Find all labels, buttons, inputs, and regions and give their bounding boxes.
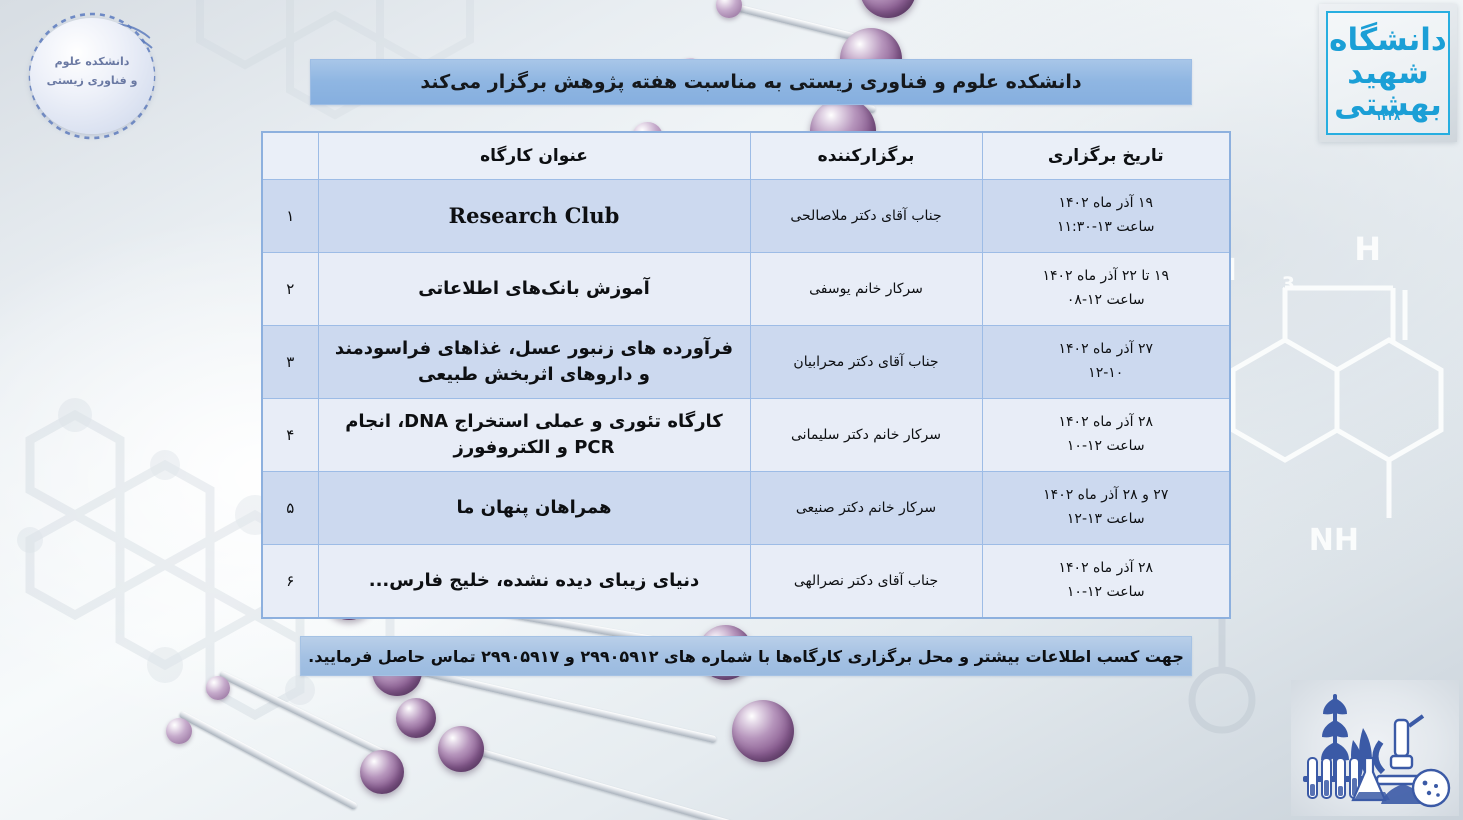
university-logo-frame: دانشگاه شهید بهشتی ۱۳۳۸: [1326, 11, 1450, 135]
cell-date: ۲۷ آذر ماه ۱۴۰۲ ۱۲-۱۰: [982, 326, 1230, 399]
faculty-seal: دانشکده علوم و فناوری زیستی: [12, 8, 172, 140]
cell-title: آموزش بانک‌های اطلاعاتی: [318, 253, 750, 326]
poster-root: CH 3 H NH دانشکده عل: [0, 0, 1463, 820]
table-row: ۱۹ تا ۲۲ آذر ماه ۱۴۰۲ ساعت ۱۲-۰۸ سرکار خ…: [262, 253, 1230, 326]
cell-organizer: سرکار خانم دکتر سلیمانی: [750, 399, 982, 472]
cell-date: ۲۸ آذر ماه ۱۴۰۲ ساعت ۱۲-۱۰: [982, 545, 1230, 618]
cell-index: ۳: [262, 326, 318, 399]
cell-index: ۱: [262, 180, 318, 253]
column-header-title: عنوان کارگاه: [318, 132, 750, 180]
cell-index: ۶: [262, 545, 318, 618]
date-line-1: ۲۷ و ۲۸ آذر ماه ۱۴۰۲: [991, 484, 1222, 508]
table-body: ۱۹ آذر ماه ۱۴۰۲ ساعت ۱۳-۱۱:۳۰ جناب آقای …: [262, 180, 1230, 618]
cell-organizer: سرکار خانم یوسفی: [750, 253, 982, 326]
cell-index: ۲: [262, 253, 318, 326]
cell-title: فرآورده های زنبور عسل، غذاهای فراسودمند …: [318, 326, 750, 399]
date-line-2: ساعت ۱۲-۱۰: [991, 435, 1222, 459]
cell-title: کارگاه تئوری و عملی استخراج DNA، انجام P…: [318, 399, 750, 472]
date-line-2: ساعت ۱۲-۰۸: [991, 289, 1222, 313]
workshop-schedule-table: تاریخ برگزاری برگزارکننده عنوان کارگاه ۱…: [261, 131, 1231, 619]
table-row: ۱۹ آذر ماه ۱۴۰۲ ساعت ۱۳-۱۱:۳۰ جناب آقای …: [262, 180, 1230, 253]
university-logo-year: ۱۳۳۸: [1328, 112, 1448, 123]
chemical-structure-icon: CH 3 H NH: [1223, 210, 1463, 610]
seal-text: دانشکده علوم و فناوری زیستی: [12, 52, 172, 91]
column-header-date: تاریخ برگزاری: [982, 132, 1230, 180]
date-line-1: ۲۷ آذر ماه ۱۴۰۲: [991, 338, 1222, 362]
table-row: ۲۸ آذر ماه ۱۴۰۲ ساعت ۱۲-۱۰ جناب آقای دکت…: [262, 545, 1230, 618]
bio-lab-emblem: [1291, 680, 1459, 816]
cell-index: ۵: [262, 472, 318, 545]
microscope-plant-labware-icon: [1291, 680, 1459, 816]
university-logo: دانشگاه شهید بهشتی ۱۳۳۸: [1319, 4, 1457, 142]
date-line-2: ساعت ۱۳-۱۲: [991, 508, 1222, 532]
date-line-1: ۲۸ آذر ماه ۱۴۰۲: [991, 557, 1222, 581]
cell-date: ۲۸ آذر ماه ۱۴۰۲ ساعت ۱۲-۱۰: [982, 399, 1230, 472]
svg-text:3: 3: [1282, 273, 1295, 295]
cell-organizer: جناب آقای دکتر محرابیان: [750, 326, 982, 399]
column-header-organizer: برگزارکننده: [750, 132, 982, 180]
contact-banner-text: جهت کسب اطلاعات بیشتر و محل برگزاری کارگ…: [308, 647, 1184, 666]
cell-organizer: سرکار خانم دکتر صنیعی: [750, 472, 982, 545]
date-line-2: ۱۲-۱۰: [991, 362, 1222, 386]
cell-organizer: جناب آقای دکتر نصرالهی: [750, 545, 982, 618]
date-line-1: ۱۹ آذر ماه ۱۴۰۲: [991, 192, 1222, 216]
cell-index: ۴: [262, 399, 318, 472]
date-line-2: ساعت ۱۲-۱۰: [991, 581, 1222, 605]
table-header-row: تاریخ برگزاری برگزارکننده عنوان کارگاه: [262, 132, 1230, 180]
date-line-1: ۲۸ آذر ماه ۱۴۰۲: [991, 411, 1222, 435]
table-head: تاریخ برگزاری برگزارکننده عنوان کارگاه: [262, 132, 1230, 180]
table-row: ۲۷ و ۲۸ آذر ماه ۱۴۰۲ ساعت ۱۳-۱۲ سرکار خا…: [262, 472, 1230, 545]
schedule-table-container: تاریخ برگزاری برگزارکننده عنوان کارگاه ۱…: [263, 131, 1231, 619]
seal-line-1: دانشکده علوم: [12, 52, 172, 71]
cell-date: ۱۹ تا ۲۲ آذر ماه ۱۴۰۲ ساعت ۱۲-۰۸: [982, 253, 1230, 326]
cell-organizer: جناب آقای دکتر ملاصالحی: [750, 180, 982, 253]
date-line-2: ساعت ۱۳-۱۱:۳۰: [991, 216, 1222, 240]
cell-title: همراهان پنهان ما: [318, 472, 750, 545]
svg-text:NH: NH: [1309, 523, 1359, 558]
date-line-1: ۱۹ تا ۲۲ آذر ماه ۱۴۰۲: [991, 265, 1222, 289]
cell-title: Research Club: [318, 180, 750, 253]
column-header-index: [262, 132, 318, 180]
title-banner-text: دانشکده علوم و فناوری زیستی به مناسبت هف…: [420, 71, 1081, 93]
table-row: ۲۷ آذر ماه ۱۴۰۲ ۱۲-۱۰ جناب آقای دکتر محر…: [262, 326, 1230, 399]
table-row: ۲۸ آذر ماه ۱۴۰۲ ساعت ۱۲-۱۰ سرکار خانم دک…: [262, 399, 1230, 472]
cell-date: ۱۹ آذر ماه ۱۴۰۲ ساعت ۱۳-۱۱:۳۰: [982, 180, 1230, 253]
seal-line-2: و فناوری زیستی: [12, 71, 172, 90]
svg-text:H: H: [1354, 230, 1381, 268]
title-banner: دانشکده علوم و فناوری زیستی به مناسبت هف…: [310, 59, 1192, 105]
contact-banner: جهت کسب اطلاعات بیشتر و محل برگزاری کارگ…: [300, 636, 1192, 676]
cell-title: دنیای زیبای دیده نشده، خلیج فارس...: [318, 545, 750, 618]
cell-date: ۲۷ و ۲۸ آذر ماه ۱۴۰۲ ساعت ۱۳-۱۲: [982, 472, 1230, 545]
